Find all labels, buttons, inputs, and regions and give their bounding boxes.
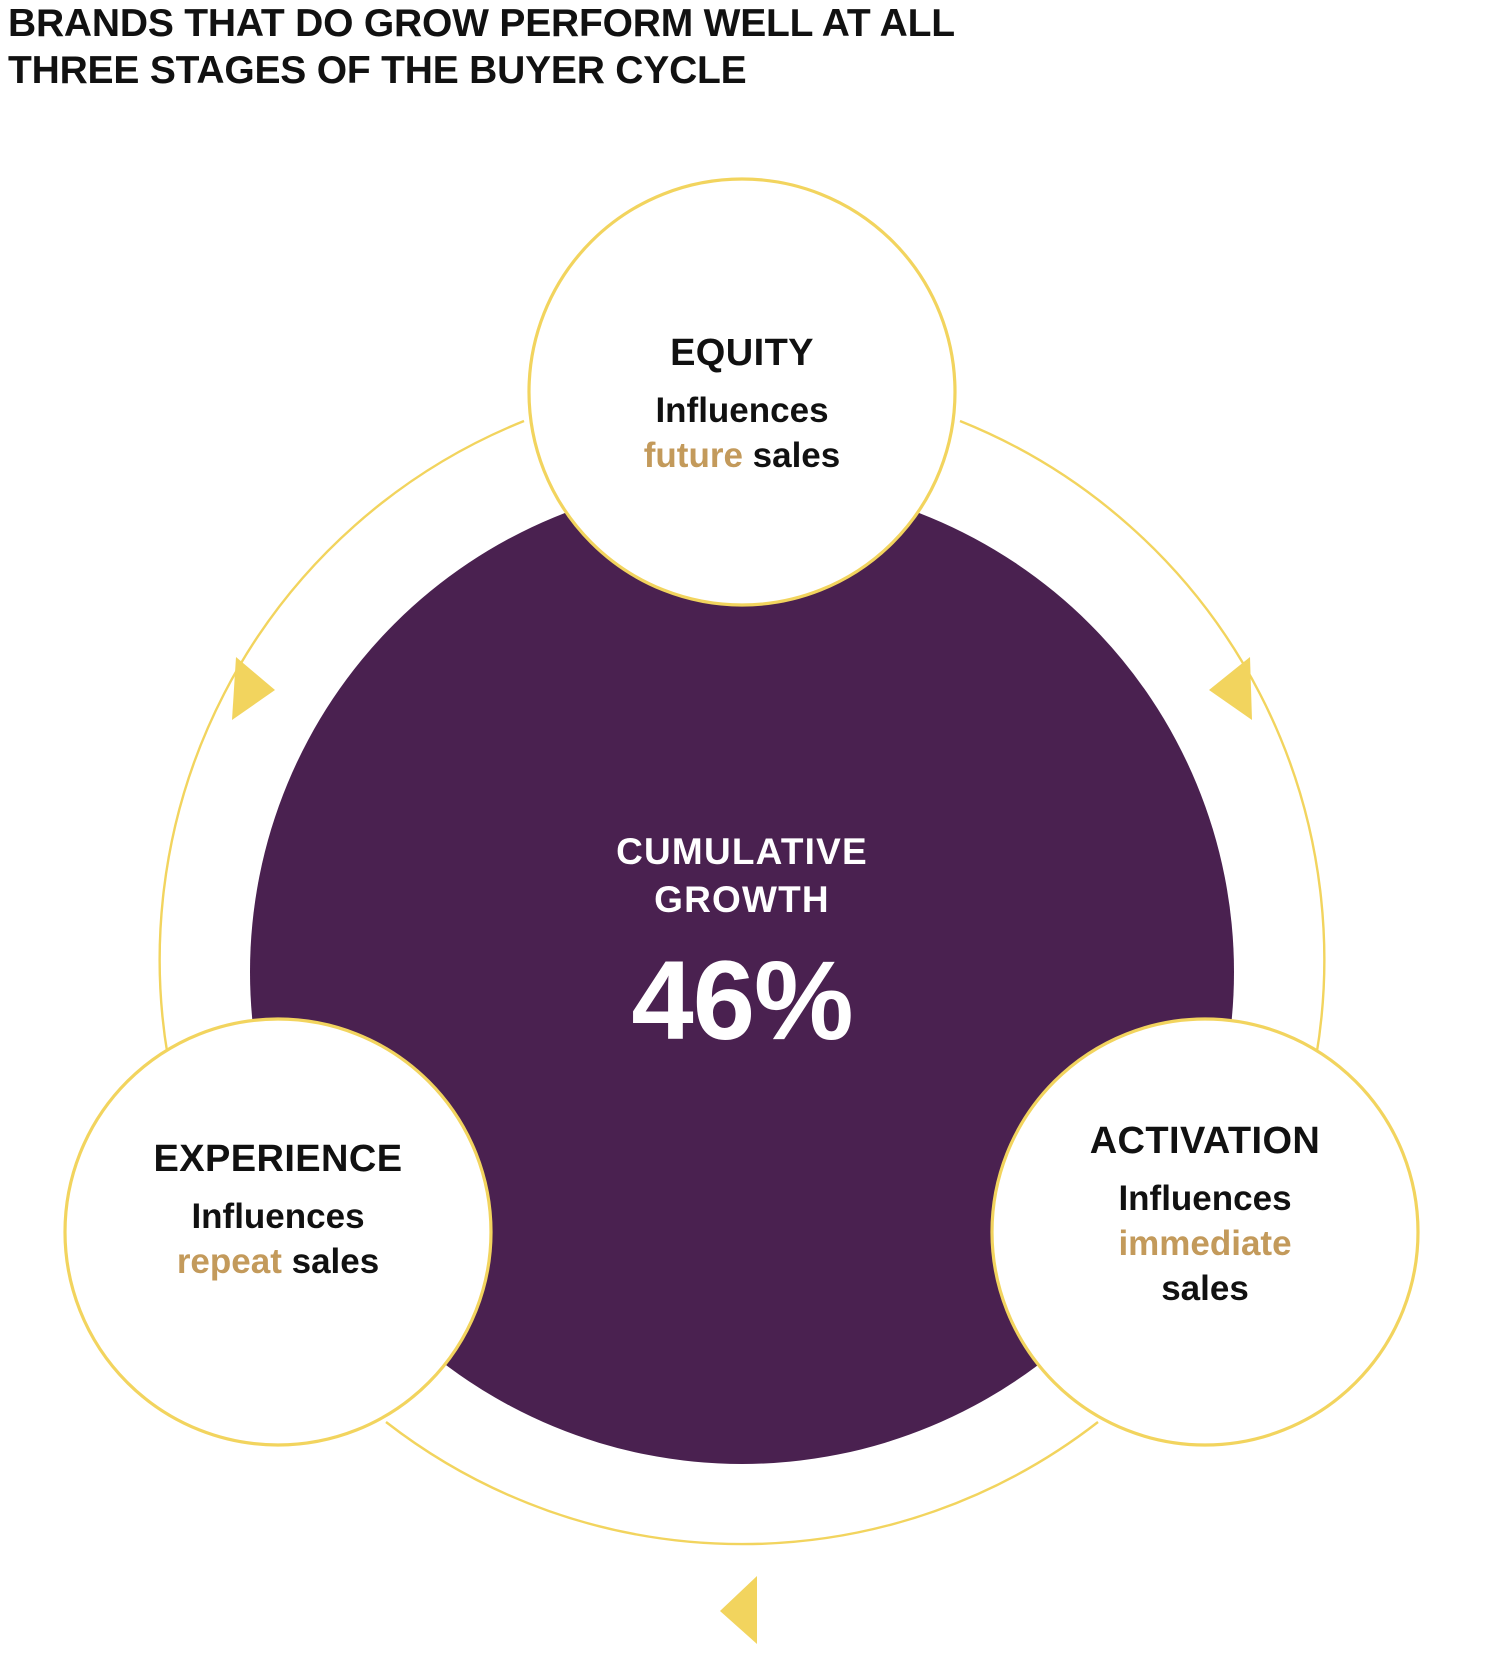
node-equity-body-tail: sales	[743, 436, 840, 475]
node-experience-body: Influences repeat sales	[63, 1194, 493, 1284]
node-experience-body-tail: sales	[282, 1242, 379, 1281]
node-activation-body-tail: sales	[1161, 1269, 1249, 1308]
infographic-root: BRANDS THAT DO GROW PERFORM WELL AT ALL …	[0, 0, 1500, 1653]
node-equity-body-lead: Influences	[655, 391, 828, 430]
node-experience-body-lead: Influences	[191, 1197, 364, 1236]
node-equity-body: Influences future sales	[527, 388, 957, 478]
center-metric: CUMULATIVE GROWTH 46%	[492, 828, 992, 1060]
node-activation-body: Influences immediatesales	[990, 1176, 1420, 1311]
node-activation-body-accent: immediate	[1118, 1224, 1291, 1263]
node-equity-title: EQUITY	[527, 330, 957, 376]
center-label-line-1: CUMULATIVE	[492, 828, 992, 876]
arrow-marker-bottom	[720, 1576, 757, 1644]
node-equity[interactable]: EQUITY Influences future sales	[527, 330, 957, 478]
center-label-line-2: GROWTH	[492, 876, 992, 924]
node-activation-title: ACTIVATION	[990, 1118, 1420, 1164]
node-experience[interactable]: EXPERIENCE Influences repeat sales	[63, 1136, 493, 1284]
cycle-diagram	[0, 0, 1500, 1653]
center-value: 46%	[492, 942, 992, 1060]
node-equity-body-accent: future	[644, 436, 743, 475]
node-activation-body-lead: Influences	[1118, 1179, 1291, 1218]
node-activation[interactable]: ACTIVATION Influences immediatesales	[990, 1118, 1420, 1311]
node-experience-title: EXPERIENCE	[63, 1136, 493, 1182]
arrow-marker-left	[232, 657, 275, 720]
node-experience-body-accent: repeat	[177, 1242, 282, 1281]
arrow-marker-right	[1209, 657, 1252, 720]
